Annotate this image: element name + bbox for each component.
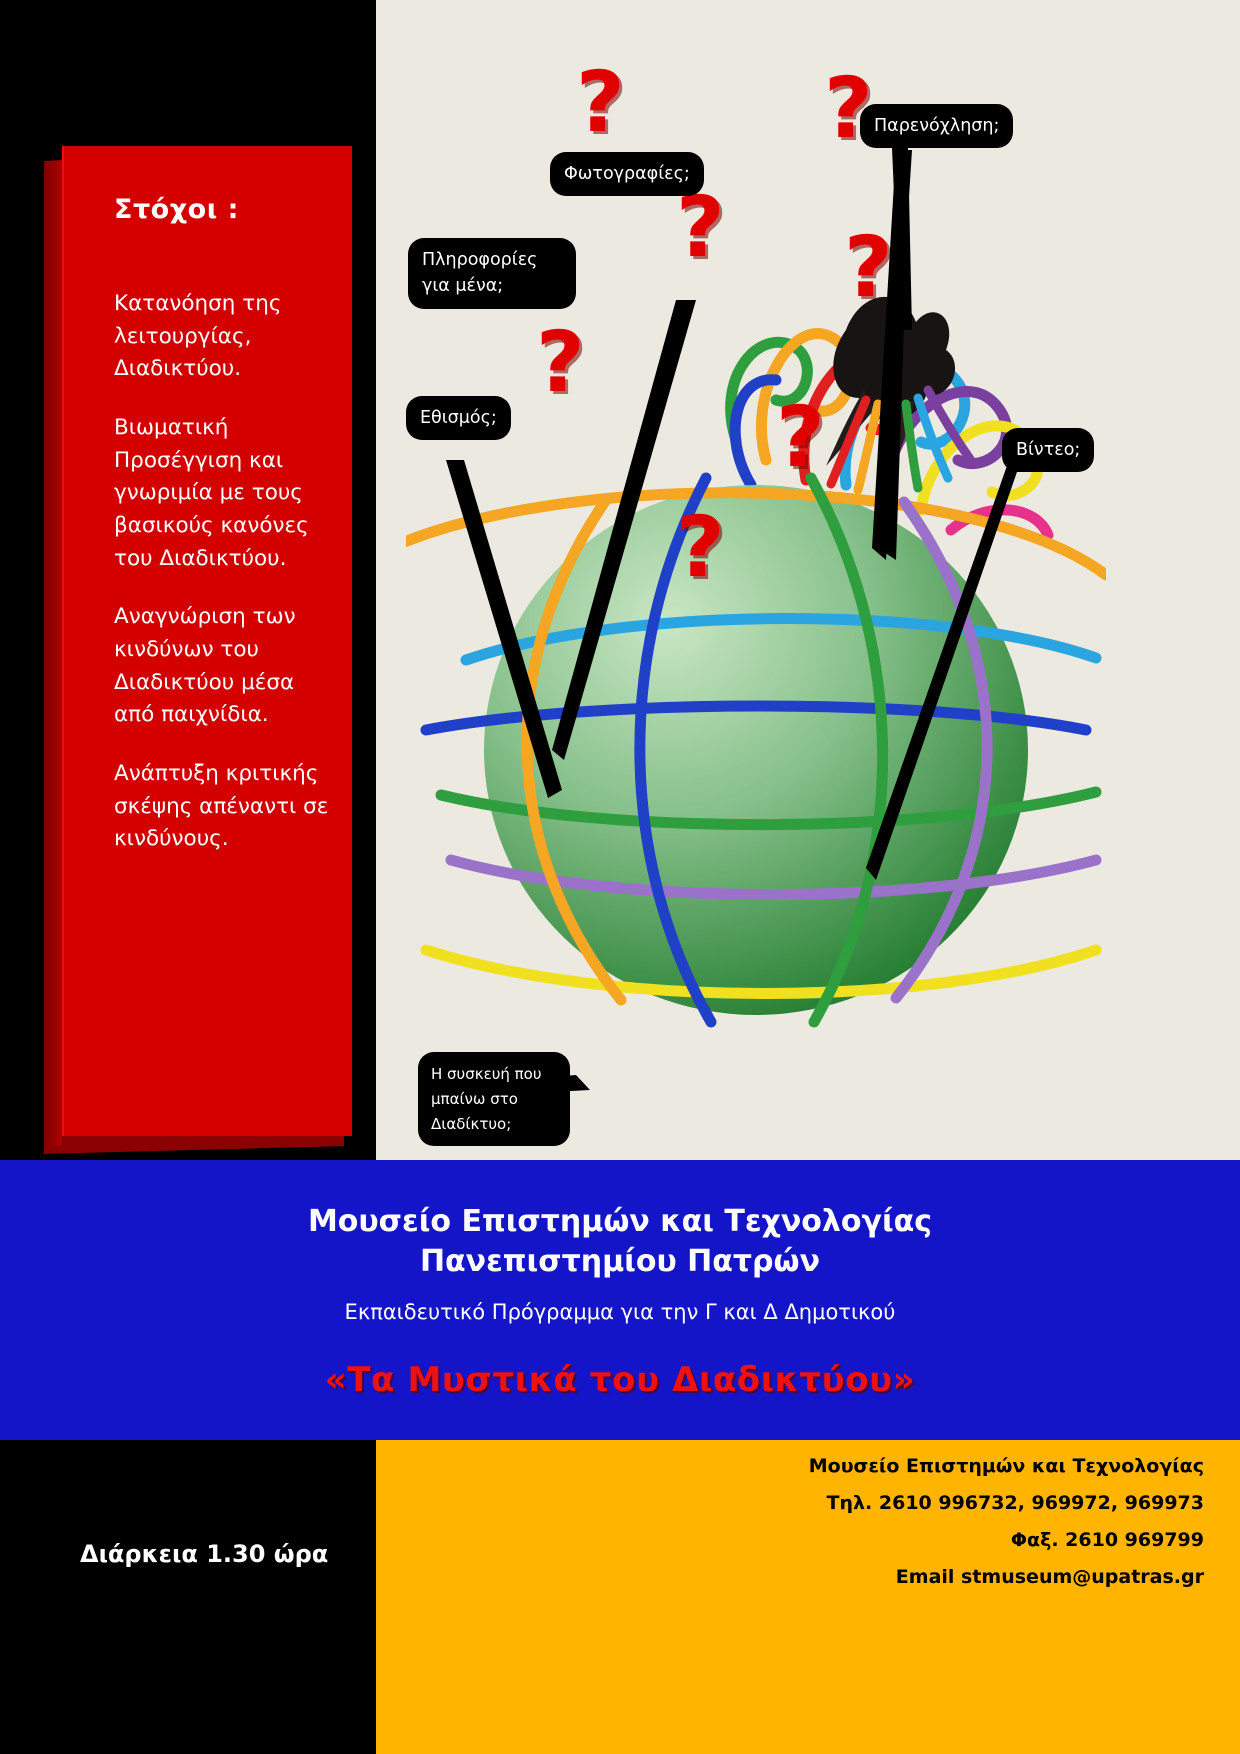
bubble-photos[interactable]: Φωτογραφίες; (550, 152, 704, 196)
duration-text: Διάρκεια 1.30 ώρα (80, 1540, 328, 1568)
goals-list: Κατανόηση της λειτουργίας, Διαδικτύου. Β… (114, 288, 330, 882)
poster-root: ? ? ? ? ? ? ? Παρενόχληση; Φωτογραφίες; … (0, 0, 1240, 1754)
bubble-device[interactable]: Η συσκευή που μπαίνω στο Διαδίκτυο; (418, 1052, 570, 1146)
bubble-video[interactable]: Βίντεο; (1002, 428, 1094, 472)
duration-area (0, 1440, 376, 1754)
goals-title: Στόχοι : (114, 194, 239, 225)
bubble-info-about-me[interactable]: Πληροφορίες για μένα; (408, 238, 576, 309)
program-subtitle: Εκπαιδευτικό Πρόγραμμα για την Γ και Δ Δ… (0, 1300, 1240, 1324)
bubble-video-text: Βίντεο; (1016, 440, 1080, 460)
bubble-harassment-text: Παρενόχληση; (874, 116, 999, 136)
artwork-area: ? ? ? ? ? ? ? Παρενόχληση; Φωτογραφίες; … (376, 0, 1240, 1160)
contact-details: Μουσείο Επιστημών και Τεχνολογίας Τηλ. 2… (604, 1448, 1204, 1596)
bubble-device-text: Η συσκευή που μπαίνω στο Διαδίκτυο; (431, 1065, 542, 1133)
contact-line-email[interactable]: Email stmuseum@upatras.gr (604, 1559, 1204, 1596)
goal-item: Αναγνώριση των κινδύνων του Διαδικτύου μ… (114, 601, 330, 732)
museum-name-line2: Πανεπιστημίου Πατρών (0, 1244, 1240, 1279)
contact-line-fax: Φαξ. 2610 969799 (604, 1522, 1204, 1559)
bubble-photos-text: Φωτογραφίες; (564, 164, 690, 184)
poster-main-title: «Τα Μυστικά του Διαδικτύου» (0, 1360, 1240, 1400)
goal-item: Ανάπτυξη κριτικής σκέψης απέναντι σε κιν… (114, 758, 330, 856)
goal-item: Βιωματική Προσέγγιση και γνωριμία με του… (114, 412, 330, 575)
contact-line-phone: Τηλ. 2610 996732, 969972, 969973 (604, 1485, 1204, 1522)
goal-item: Κατανόηση της λειτουργίας, Διαδικτύου. (114, 288, 330, 386)
bubble-addiction-text: Εθισμός; (420, 408, 497, 428)
footer-blue-band: Μουσείο Επιστημών και Τεχνολογίας Πανεπι… (0, 1160, 1240, 1440)
bubble-harassment[interactable]: Παρενόχληση; (860, 104, 1013, 148)
museum-name-line1: Μουσείο Επιστημών και Τεχνολογίας (0, 1204, 1240, 1239)
bubble-pointer-harassment (376, 0, 1240, 1160)
bubble-addiction[interactable]: Εθισμός; (406, 396, 511, 440)
contact-line-museum: Μουσείο Επιστημών και Τεχνολογίας (604, 1448, 1204, 1485)
goals-panel: Στόχοι : Κατανόηση της λειτουργίας, Διαδ… (62, 146, 352, 1136)
bubble-info-about-me-text: Πληροφορίες για μένα; (422, 250, 537, 296)
